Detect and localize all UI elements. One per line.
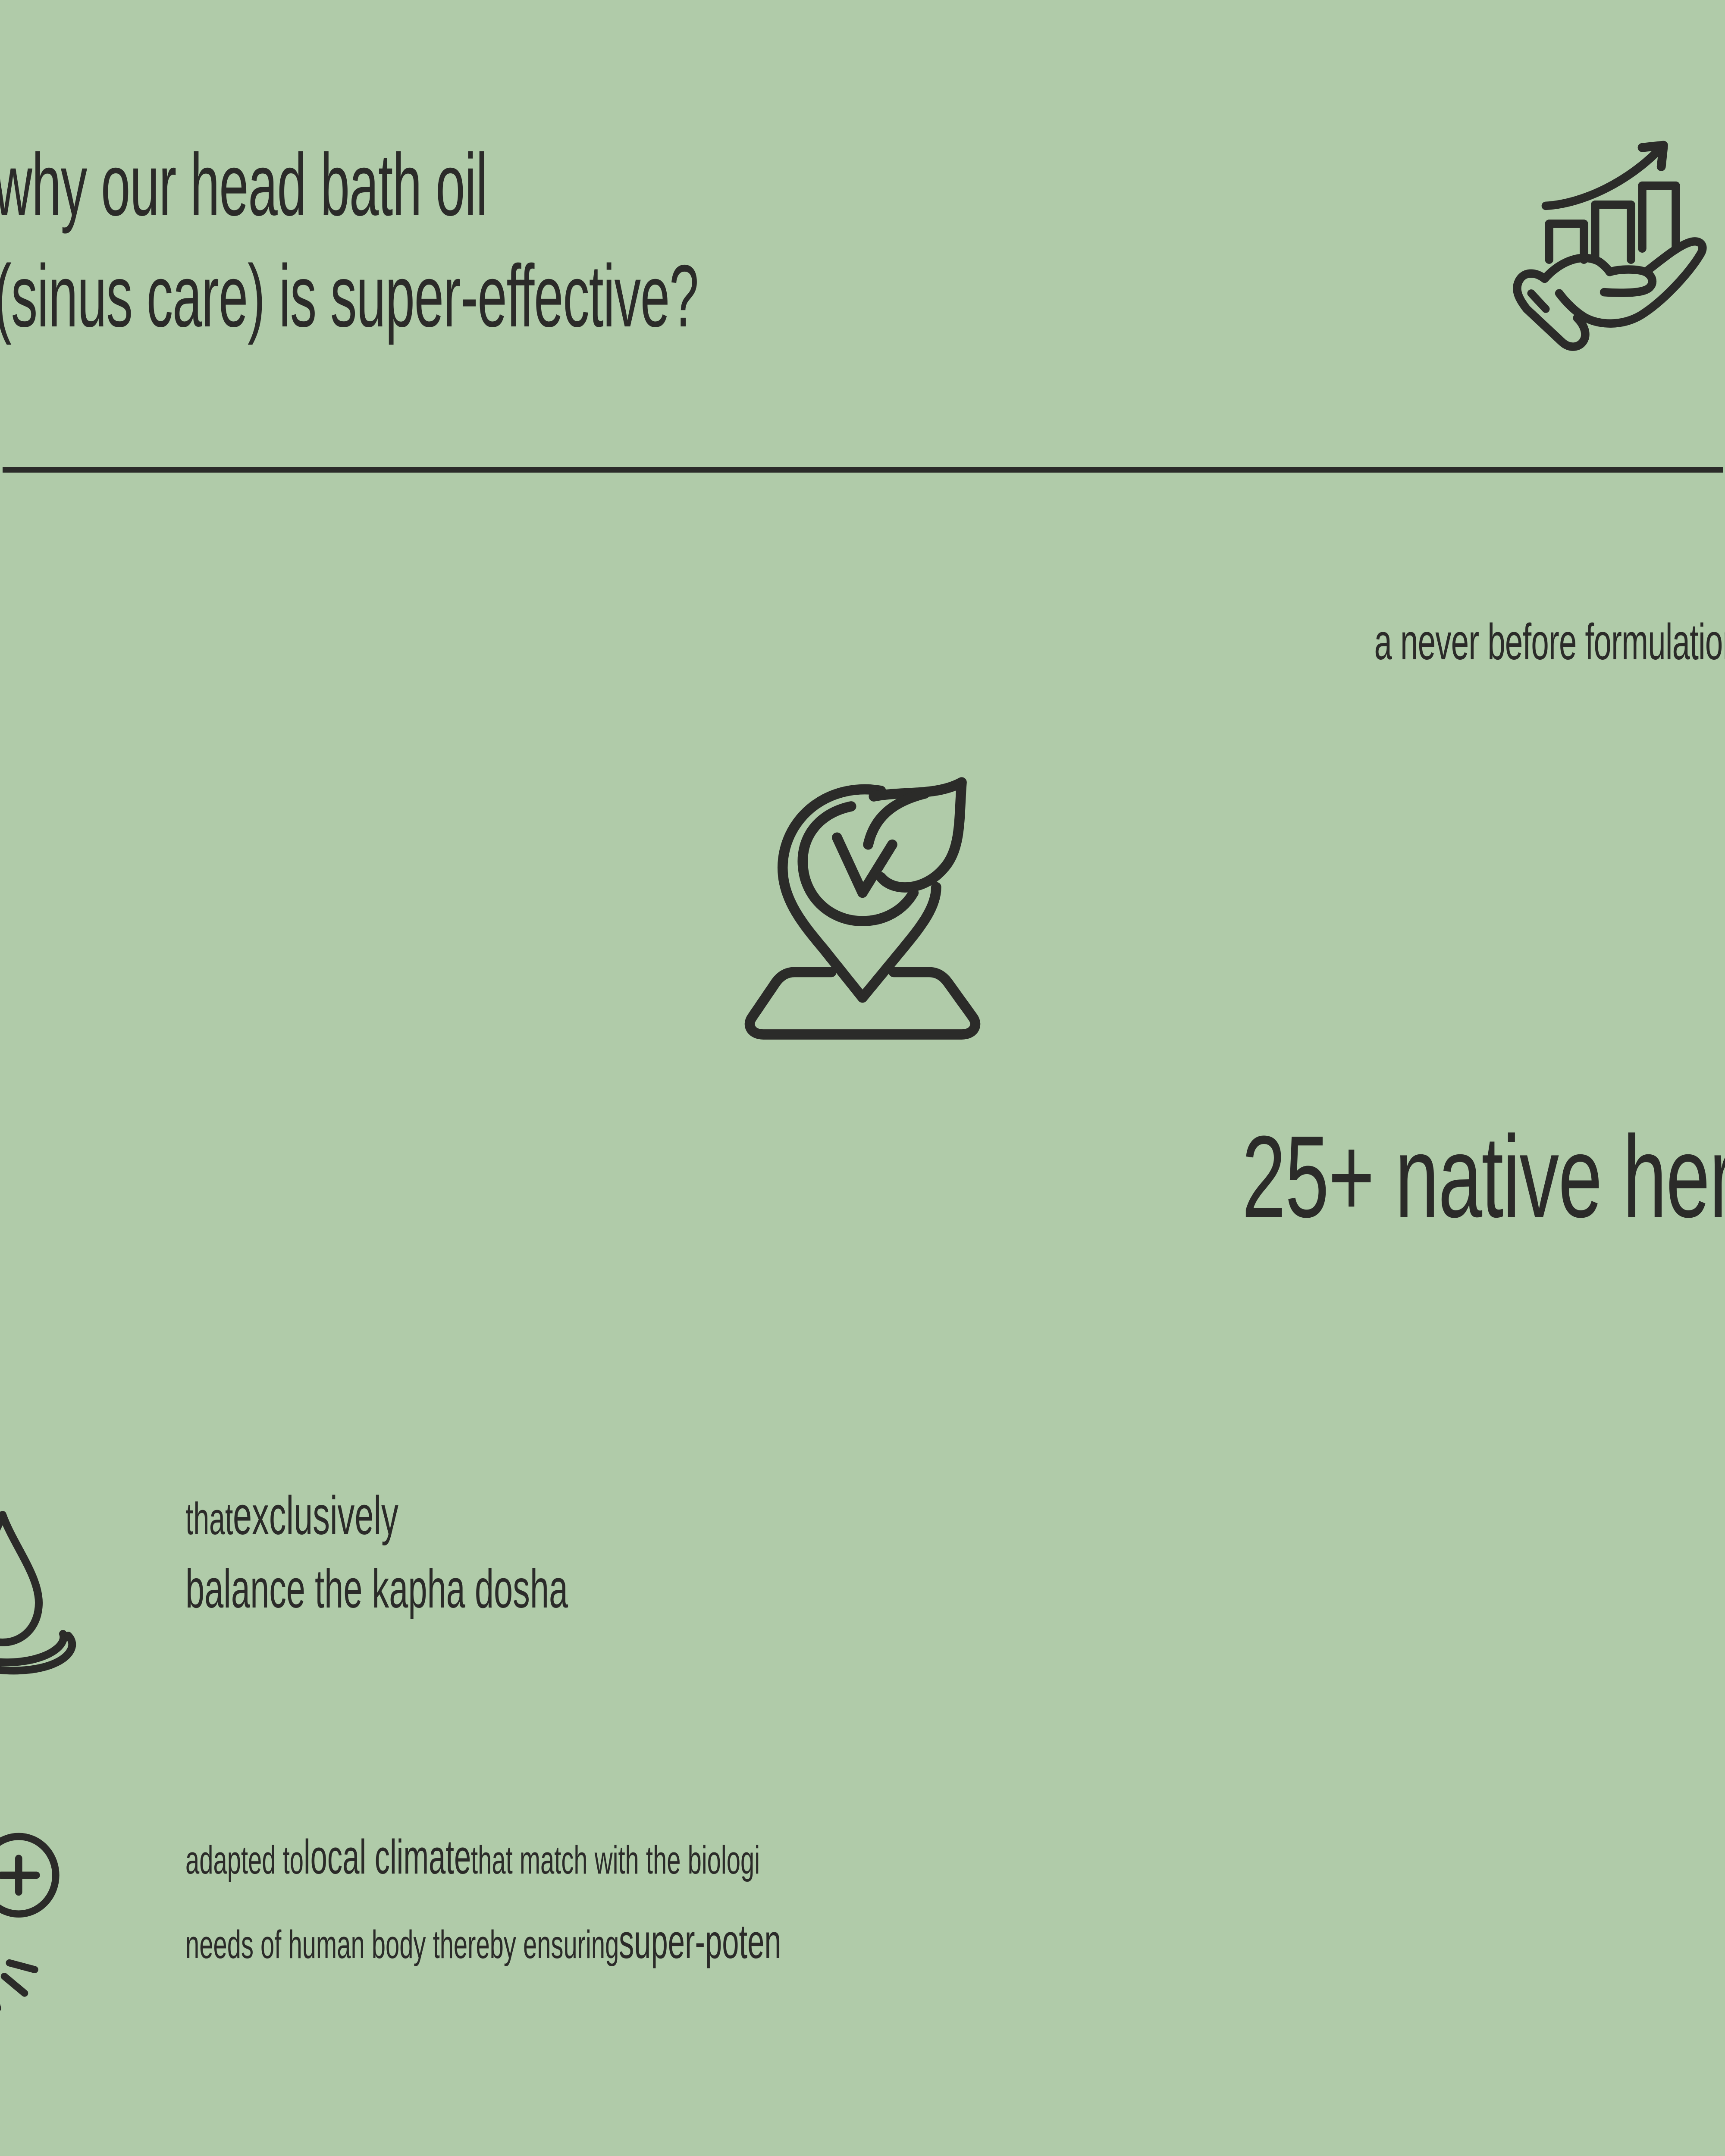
hero-eyebrow: a never before formulation with <box>0 617 1725 667</box>
bullet-kapha-lines: that exclusively balance the kapha dosha <box>185 1490 568 1636</box>
bullet-text-segment: that <box>185 1493 215 1545</box>
page-title: why our head bath oil (sinus care) is su… <box>0 129 1417 352</box>
bullet-kapha-dosha: that exclusively balance the kapha dosha <box>0 1490 1725 1697</box>
hand-holding-growth-chart-icon <box>1496 123 1721 347</box>
header: why our head bath oil (sinus care) is su… <box>0 0 1725 472</box>
hero-headline: 25+ native herbs <box>0 1119 1725 1235</box>
bullet-line: that exclusively <box>185 1490 568 1563</box>
hero-headline-text: 25+ native herbs <box>1242 1119 1633 1235</box>
bullet-text-segment: needs of human body thereby ensuring <box>185 1922 458 1967</box>
bullet-climate-lines: adapted to local climate that match with… <box>185 1835 781 2004</box>
hero-eyebrow-text: a never before formulation with <box>1374 617 1646 667</box>
leaf-location-pin-check-icon <box>720 757 1005 1054</box>
bullet-text-segment-emphasis: local climate <box>304 1835 409 1880</box>
water-drop-ripple-icon <box>0 1503 96 1684</box>
bullet-text-segment-emphasis: super-poten <box>619 1919 721 1964</box>
page-title-line-2-text: (sinus care) is super-effective? <box>0 241 417 352</box>
bullet-text-segment: adapted to <box>185 1838 260 1883</box>
page-title-line-2: (sinus care) is super-effective? <box>0 241 1417 352</box>
bullet-text-segment-emphasis: balance the kapha dosha <box>185 1563 427 1615</box>
bullet-line: adapted to local climate that match with… <box>185 1835 781 1919</box>
page-title-line-1-text: why our head bath oil <box>0 129 290 241</box>
bullet-text-segment-emphasis: exclusively <box>233 1490 337 1542</box>
bullet-local-climate: adapted to local climate that match with… <box>0 1835 1725 2068</box>
bullet-line: balance the kapha dosha <box>185 1563 568 1636</box>
bullet-line: needs of human body thereby ensuring sup… <box>185 1919 781 2004</box>
page-title-line-1: why our head bath oil <box>0 129 1417 241</box>
bullet-text-segment: that match with the biologi <box>471 1838 653 1883</box>
magnifier-plus-sparkle-icon <box>0 1835 96 2020</box>
hero-section: a never before formulation with 25+ nati… <box>0 472 1725 1434</box>
